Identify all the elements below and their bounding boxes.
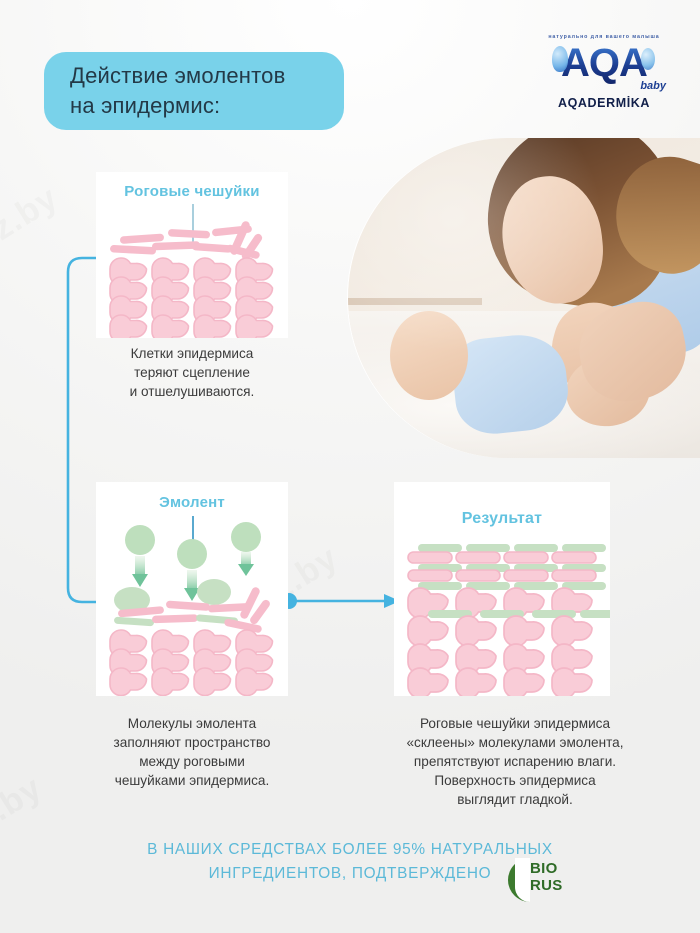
panel-emolient-caption: Молекулы эмолента заполняют пространство… [68, 714, 316, 790]
brand-logo: натурально для вашего малыша AQA baby AQ… [528, 32, 680, 124]
emolient-arrow [132, 556, 148, 587]
bio-line2: RUS [530, 877, 563, 894]
bio-line1: BIO [530, 860, 563, 877]
scale-flakes [110, 220, 264, 262]
emolient-molecules [125, 522, 261, 601]
emolient-arrow [238, 552, 254, 576]
bio-rus-label: BIO RUS [530, 860, 563, 894]
infographic-canvas: oz.by oz.by oz.by oz.by Действие эмолент… [0, 0, 700, 933]
footer: В НАШИХ СРЕДСТВАХ БОЛЕЕ 95% НАТУРАЛЬНЫХ … [0, 838, 700, 886]
panel-result-diagram [394, 482, 610, 696]
panel-result-caption: Роговые чешуйки эпидермиса «склеены» мол… [370, 714, 660, 809]
emolient-arrow [184, 570, 200, 601]
title-banner: Действие эмолентов на эпидермис: [44, 52, 344, 130]
panel-scales-caption: Клетки эпидермиса теряют сцепление и отш… [76, 344, 308, 401]
epidermis-cells [110, 630, 273, 696]
logo-aqadermika-text: AQADERMİKA [558, 96, 650, 110]
bio-rus-badge: BIO RUS [508, 856, 570, 904]
epidermis-cells [110, 258, 273, 338]
glue-layer [418, 544, 606, 552]
flat-scales-row [408, 552, 596, 563]
epidermis-cells [408, 616, 592, 696]
leaf-icon [508, 858, 530, 902]
panel-scales-diagram [96, 172, 288, 338]
panel-result: Результат [394, 482, 610, 696]
panel-emolient-diagram [96, 482, 288, 696]
panel-scales: Роговые чешуйки [96, 172, 288, 338]
page-title: Действие эмолентов на эпидермис: [70, 61, 286, 121]
footer-text: В НАШИХ СРЕДСТВАХ БОЛЕЕ 95% НАТУРАЛЬНЫХ … [0, 838, 700, 886]
photo-highlight [348, 138, 700, 458]
logo-wordmark: AQA [561, 42, 647, 84]
panel-emolient: Эмолент [96, 482, 288, 696]
photo-inner [348, 138, 700, 458]
mother-and-baby-photo [348, 138, 700, 458]
